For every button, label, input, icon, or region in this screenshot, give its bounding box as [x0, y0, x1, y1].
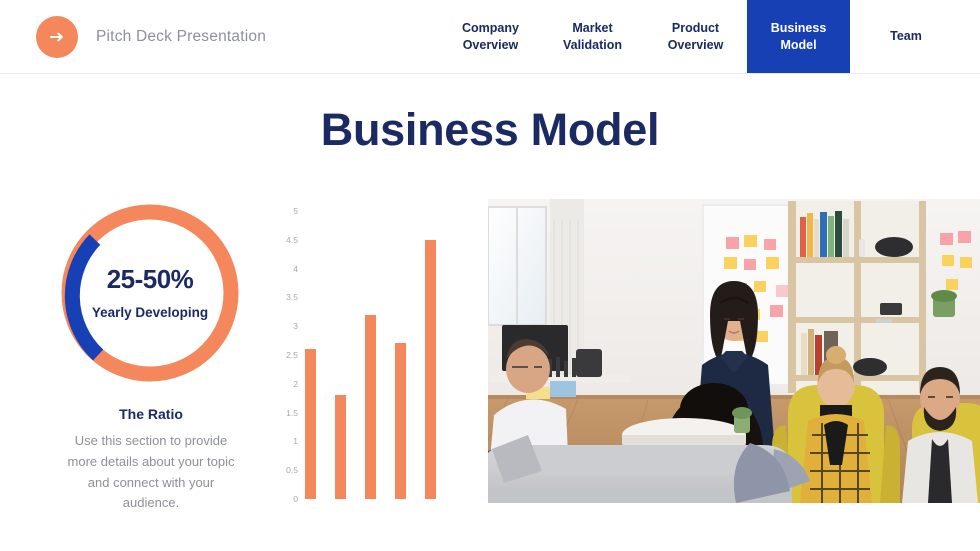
bar	[335, 395, 346, 499]
nav-item-business-model[interactable]: Business Model	[747, 0, 850, 73]
y-axis-tick: 0.5	[272, 465, 298, 475]
bar	[395, 343, 406, 499]
y-axis-tick: 3.5	[272, 292, 298, 302]
nav-item-team[interactable]: Team	[850, 0, 962, 73]
nav-item-product-overview[interactable]: Product Overview	[644, 0, 747, 73]
nav-item-market-validation[interactable]: Market Validation	[541, 0, 644, 73]
donut-chart: 25-50% Yearly Developing	[61, 204, 239, 382]
y-axis-tick: 0	[272, 494, 298, 504]
y-axis-tick: 1.5	[272, 408, 298, 418]
donut-percent: 25-50%	[107, 264, 194, 295]
page-title: Business Model	[0, 104, 980, 156]
nav-item-company-overview[interactable]: Company Overview	[440, 0, 541, 73]
y-axis-tick: 4	[272, 264, 298, 274]
ratio-heading: The Ratio	[60, 406, 242, 422]
bar-chart: 54.543.532.521.510.50	[272, 202, 462, 507]
y-axis-tick: 5	[272, 206, 298, 216]
bar	[425, 240, 436, 499]
meeting-photo	[488, 199, 980, 503]
y-axis-tick: 3	[272, 321, 298, 331]
y-axis: 54.543.532.521.510.50	[272, 202, 298, 507]
bar	[305, 349, 316, 499]
arrow-right-circle-icon	[36, 16, 78, 58]
main-nav: Company Overview Market Validation Produ…	[440, 0, 962, 73]
y-axis-tick: 1	[272, 436, 298, 446]
bar	[365, 315, 376, 499]
plot-area	[302, 202, 462, 507]
ratio-caption: The Ratio Use this section to provide mo…	[60, 406, 242, 514]
donut-sublabel: Yearly Developing	[92, 304, 208, 321]
brand-title: Pitch Deck Presentation	[96, 28, 266, 46]
ratio-body: Use this section to provide more details…	[60, 431, 242, 514]
y-axis-tick: 4.5	[272, 235, 298, 245]
donut-center-label: 25-50% Yearly Developing	[61, 204, 239, 382]
y-axis-tick: 2.5	[272, 350, 298, 360]
brand: Pitch Deck Presentation	[0, 0, 266, 73]
y-axis-tick: 2	[272, 379, 298, 389]
app-header: Pitch Deck Presentation Company Overview…	[0, 0, 980, 74]
